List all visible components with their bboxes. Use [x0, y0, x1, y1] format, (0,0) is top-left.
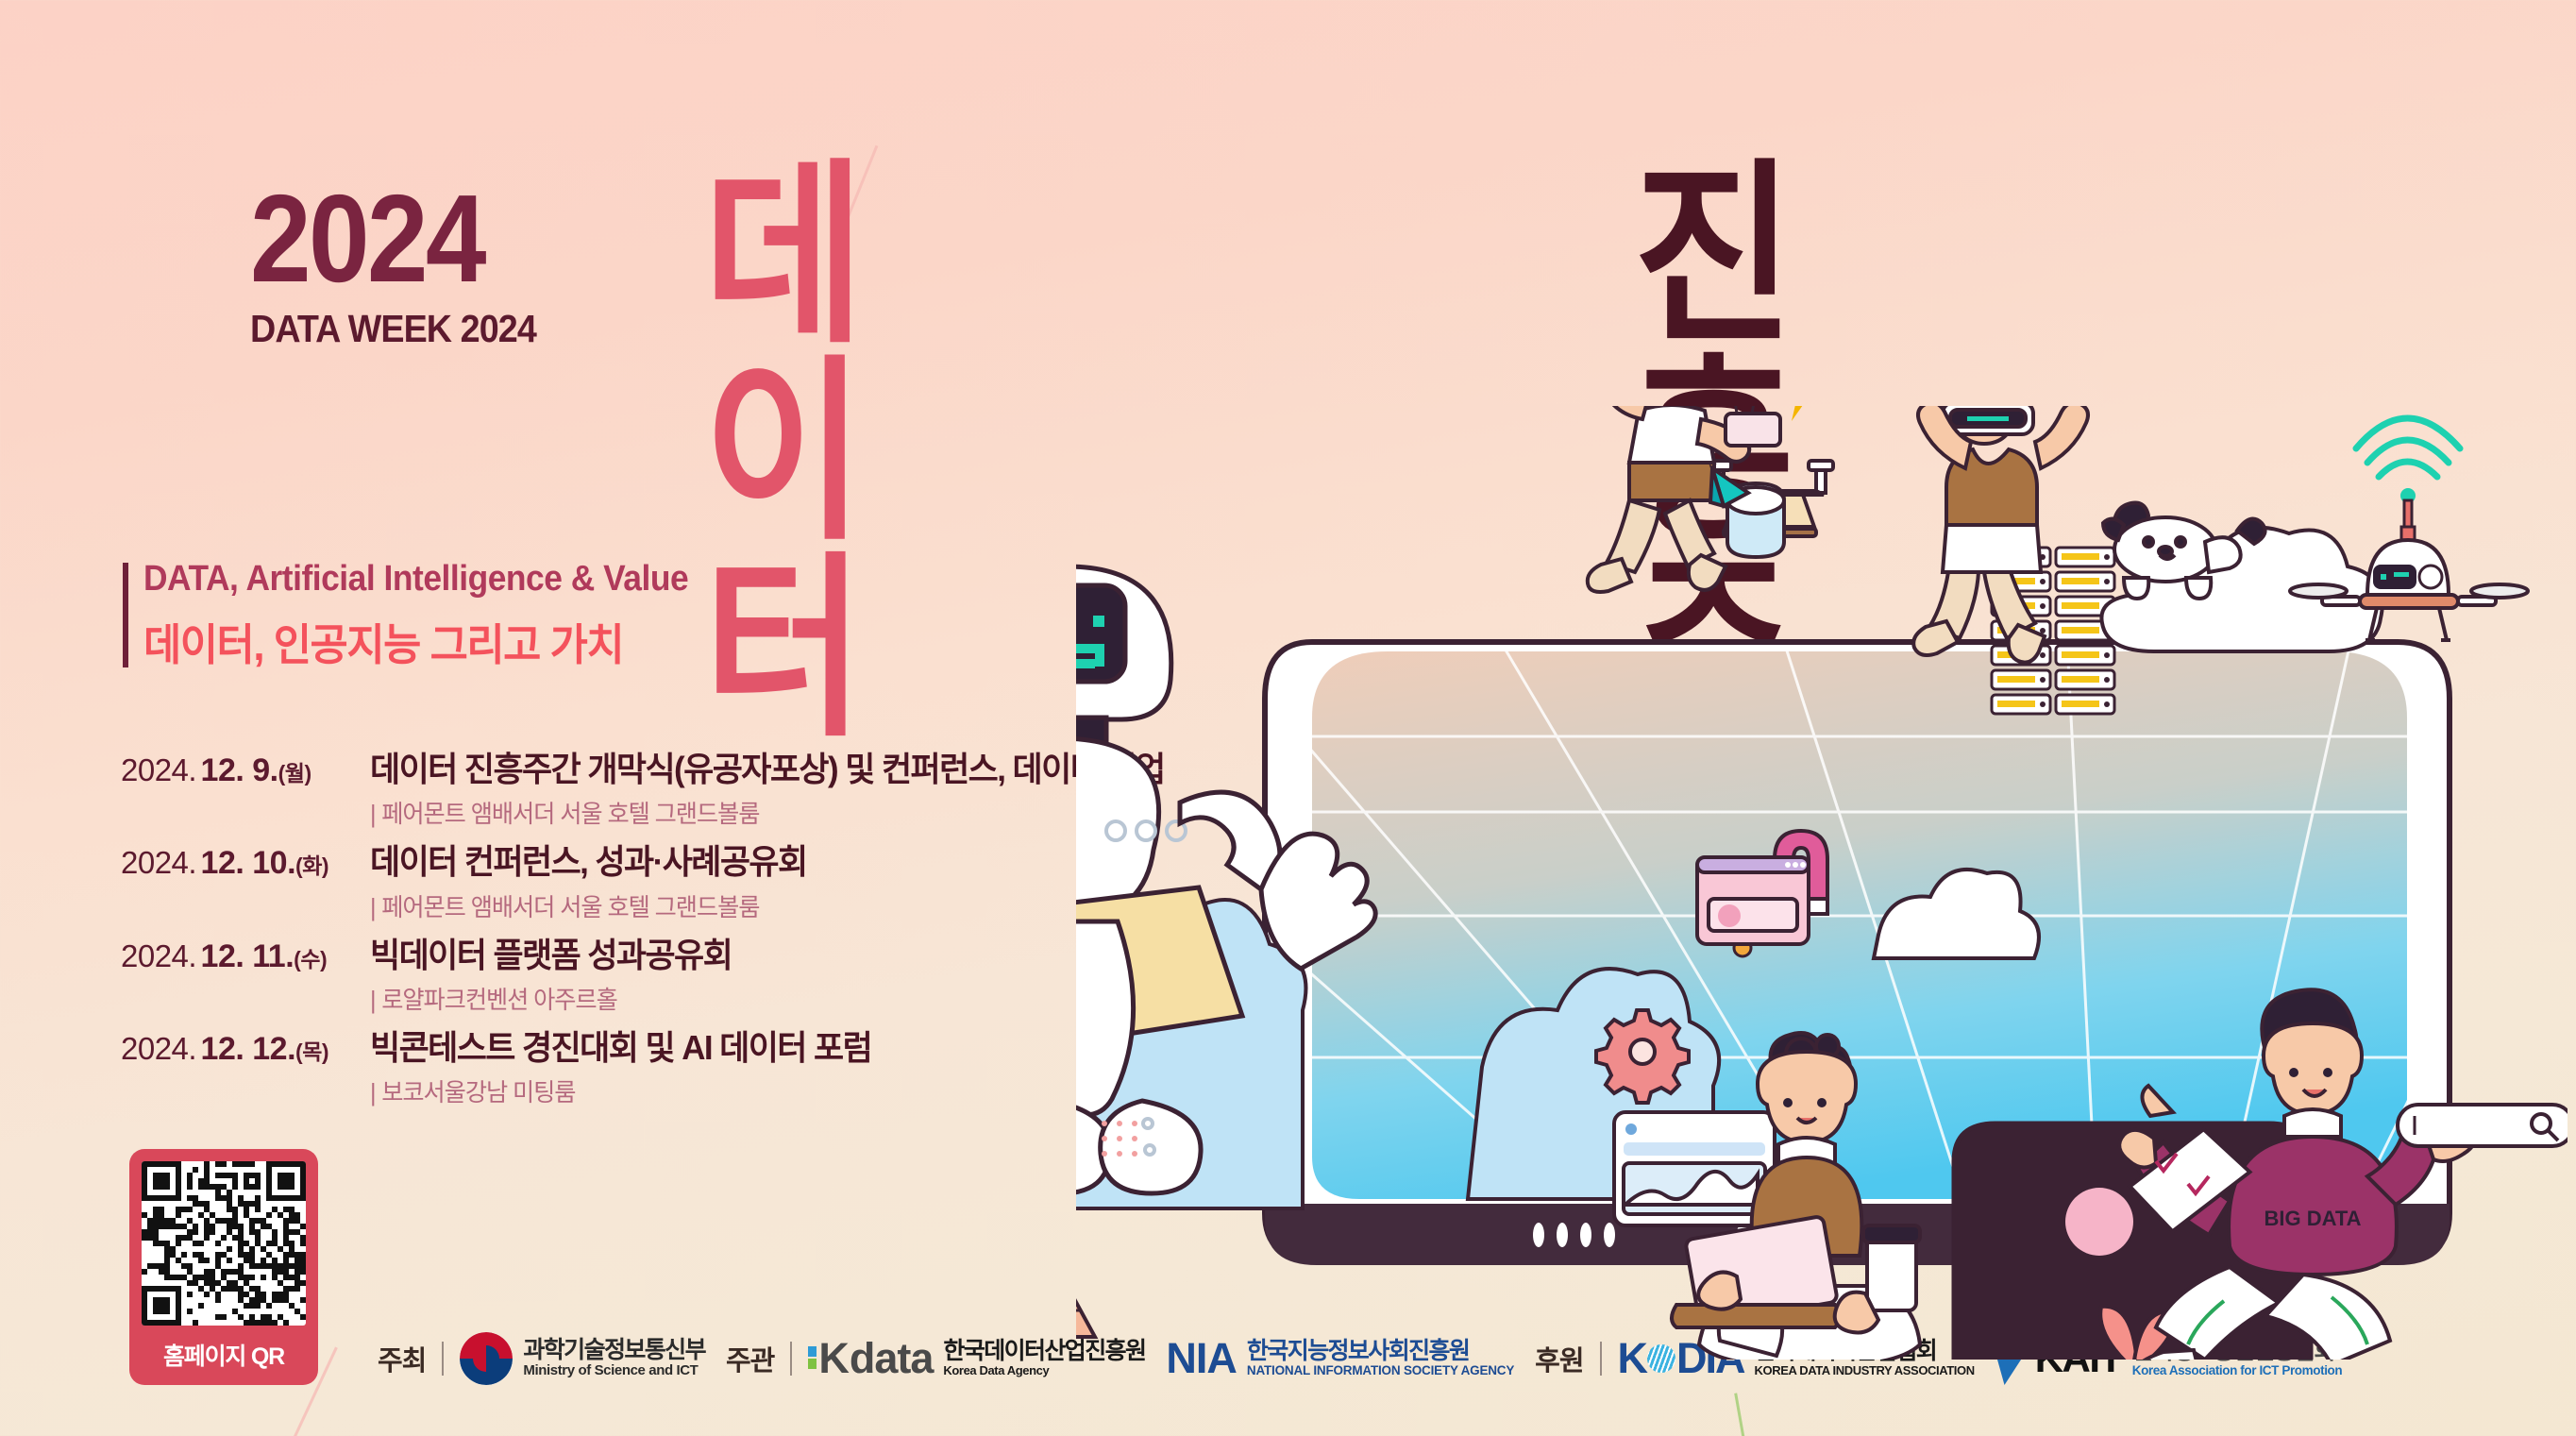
logo-ko-label: 과학기술정보통신부 — [523, 1337, 705, 1363]
schedule-venue-row: |페어몬트 앰배서더 서울 호텔 그랜드볼룸 — [370, 795, 1165, 830]
schedule-venue: 페어몬트 앰배서더 서울 호텔 그랜드볼룸 — [381, 893, 759, 921]
venue-bar-icon: | — [370, 800, 375, 828]
schedule-month-day: 12. 11. — [201, 938, 295, 974]
schedule-row: 2024. 12. 12.(목) 빅콘테스트 경진대회 및 AI 데이터 포럼 … — [121, 1029, 1189, 1108]
schedule-date: 2024. 12. 9.(월) — [121, 751, 357, 789]
schedule-venue-row: |페어몬트 앰배서더 서울 호텔 그랜드볼룸 — [370, 888, 807, 923]
qr-card[interactable]: 홈페이지 QR — [129, 1149, 318, 1385]
logo-en-label: Ministry of Science and ICT — [523, 1363, 705, 1379]
schedule-date: 2024. 12. 12.(목) — [121, 1029, 357, 1068]
schedule-year: 2024. — [121, 845, 196, 880]
chart-window — [1614, 1112, 1775, 1225]
schedule-row: 2024. 12. 9.(월) 데이터 진흥주간 개막식(유공자포상) 및 컨퍼… — [121, 751, 1189, 830]
schedule-venue: 로얄파크컨벤션 아주르홀 — [381, 986, 616, 1014]
logo-en-label: Korea Data Agency — [943, 1364, 1145, 1377]
schedule-venue: 페어몬트 앰배서더 서울 호텔 그랜드볼룸 — [381, 800, 759, 828]
wifi-signal-icon — [2356, 418, 2460, 477]
schedule-day-of-week: (월) — [278, 761, 311, 786]
title-year: 2024 — [250, 179, 524, 299]
schedule-year: 2024. — [121, 1031, 196, 1066]
logo-en-label: NATIONAL INFORMATION SOCIETY AGENCY — [1247, 1364, 1514, 1378]
subtitle-block: DATA, Artificial Intelligence & Value 데이… — [123, 559, 730, 673]
qr-code-image[interactable] — [142, 1161, 306, 1326]
schedule-venue: 보코서울강남 미팅룸 — [381, 1078, 575, 1107]
illustration: BIG DATA — [1076, 406, 2568, 1360]
schedule-title: 빅데이터 플랫폼 성과공유회 — [370, 937, 732, 974]
poster-root: 2024 DATA WEEK 2024 데이터 진흥주간 DATA, Artif… — [0, 0, 2576, 1436]
footer-role-label: 주최 — [378, 1339, 426, 1378]
subtitle-korean: 데이터, 인공지능 그리고 가치 — [143, 611, 700, 673]
schedule-body: 빅데이터 플랫폼 성과공유회 |로얄파크컨벤션 아주르홀 — [357, 937, 743, 1016]
schedule-list: 2024. 12. 9.(월) 데이터 진흥주간 개막식(유공자포상) 및 컨퍼… — [121, 751, 1189, 1122]
venue-bar-icon: | — [370, 1078, 375, 1107]
schedule-title: 데이터 컨퍼런스, 성과·사례공유회 — [370, 843, 807, 881]
venue-bar-icon: | — [370, 893, 375, 921]
wifi-drone-icon — [2290, 418, 2528, 640]
logo-ministry-of-science-ict[interactable]: 과학기술정보통신부 Ministry of Science and ICT — [460, 1332, 705, 1385]
title-block: 2024 DATA WEEK 2024 데이터 진흥주간 — [250, 179, 561, 351]
title-eyebrow: DATA WEEK 2024 — [250, 307, 536, 351]
schedule-date: 2024. 12. 10.(화) — [121, 843, 357, 882]
footer-divider — [790, 1342, 792, 1376]
qr-label: 홈페이지 QR — [142, 1338, 306, 1372]
schedule-row: 2024. 12. 11.(수) 빅데이터 플랫폼 성과공유회 |로얄파크컨벤션… — [121, 937, 1189, 1016]
shirt-big-data-label: BIG DATA — [2264, 1207, 2361, 1230]
schedule-body: 데이터 컨퍼런스, 성과·사례공유회 |페어몬트 앰배서더 서울 호텔 그랜드볼… — [357, 843, 820, 922]
schedule-month-day: 12. 12. — [201, 1031, 295, 1067]
schedule-month-day: 12. 9. — [201, 752, 278, 788]
schedule-month-day: 12. 10. — [201, 845, 295, 881]
logo-en-label: KOREA DATA INDUSTRY ASSOCIATION — [1755, 1364, 1975, 1377]
venue-bar-icon: | — [370, 986, 375, 1014]
footer-group-host: 주최 과학기술정보통신부 Ministry of Science and ICT — [378, 1332, 705, 1385]
schedule-body: 데이터 진흥주간 개막식(유공자포상) 및 컨퍼런스, 데이터 밋업 |페어몬트… — [357, 751, 1189, 830]
schedule-date: 2024. 12. 11.(수) — [121, 937, 357, 975]
pink-window — [1697, 857, 1809, 944]
schedule-year: 2024. — [121, 938, 196, 973]
schedule-title: 데이터 진흥주간 개막식(유공자포상) 및 컨퍼런스, 데이터 밋업 — [370, 751, 1165, 788]
cylinder-shape — [1710, 468, 1784, 557]
schedule-body: 빅콘테스트 경진대회 및 AI 데이터 포럼 |보코서울강남 미팅룸 — [357, 1029, 887, 1108]
logo-en-label: Korea Association for ICT Promotion — [2132, 1364, 2343, 1378]
footer-role-label: 주관 — [726, 1339, 774, 1378]
schedule-venue-row: |보코서울강남 미팅룸 — [370, 1073, 871, 1108]
gear-icon — [1596, 1010, 1689, 1103]
triangle-ladder-shape — [1076, 1233, 1095, 1337]
schedule-day-of-week: (목) — [295, 1039, 328, 1064]
schedule-year: 2024. — [121, 752, 196, 787]
schedule-title: 빅콘테스트 경진대회 및 AI 데이터 포럼 — [370, 1029, 871, 1067]
footer-divider — [442, 1342, 444, 1376]
search-bar — [2398, 1105, 2568, 1146]
kdata-mark-icon: K — [808, 1341, 850, 1377]
schedule-venue-row: |로얄파크컨벤션 아주르홀 — [370, 981, 732, 1016]
subtitle-english: DATA, Artificial Intelligence & Value — [143, 559, 688, 600]
kdata-wordmark: data — [850, 1341, 934, 1377]
taegeuk-mark-icon — [460, 1332, 513, 1385]
schedule-row: 2024. 12. 10.(화) 데이터 컨퍼런스, 성과·사례공유회 |페어몬… — [121, 843, 1189, 922]
schedule-day-of-week: (수) — [294, 947, 327, 971]
schedule-day-of-week: (화) — [295, 853, 328, 878]
